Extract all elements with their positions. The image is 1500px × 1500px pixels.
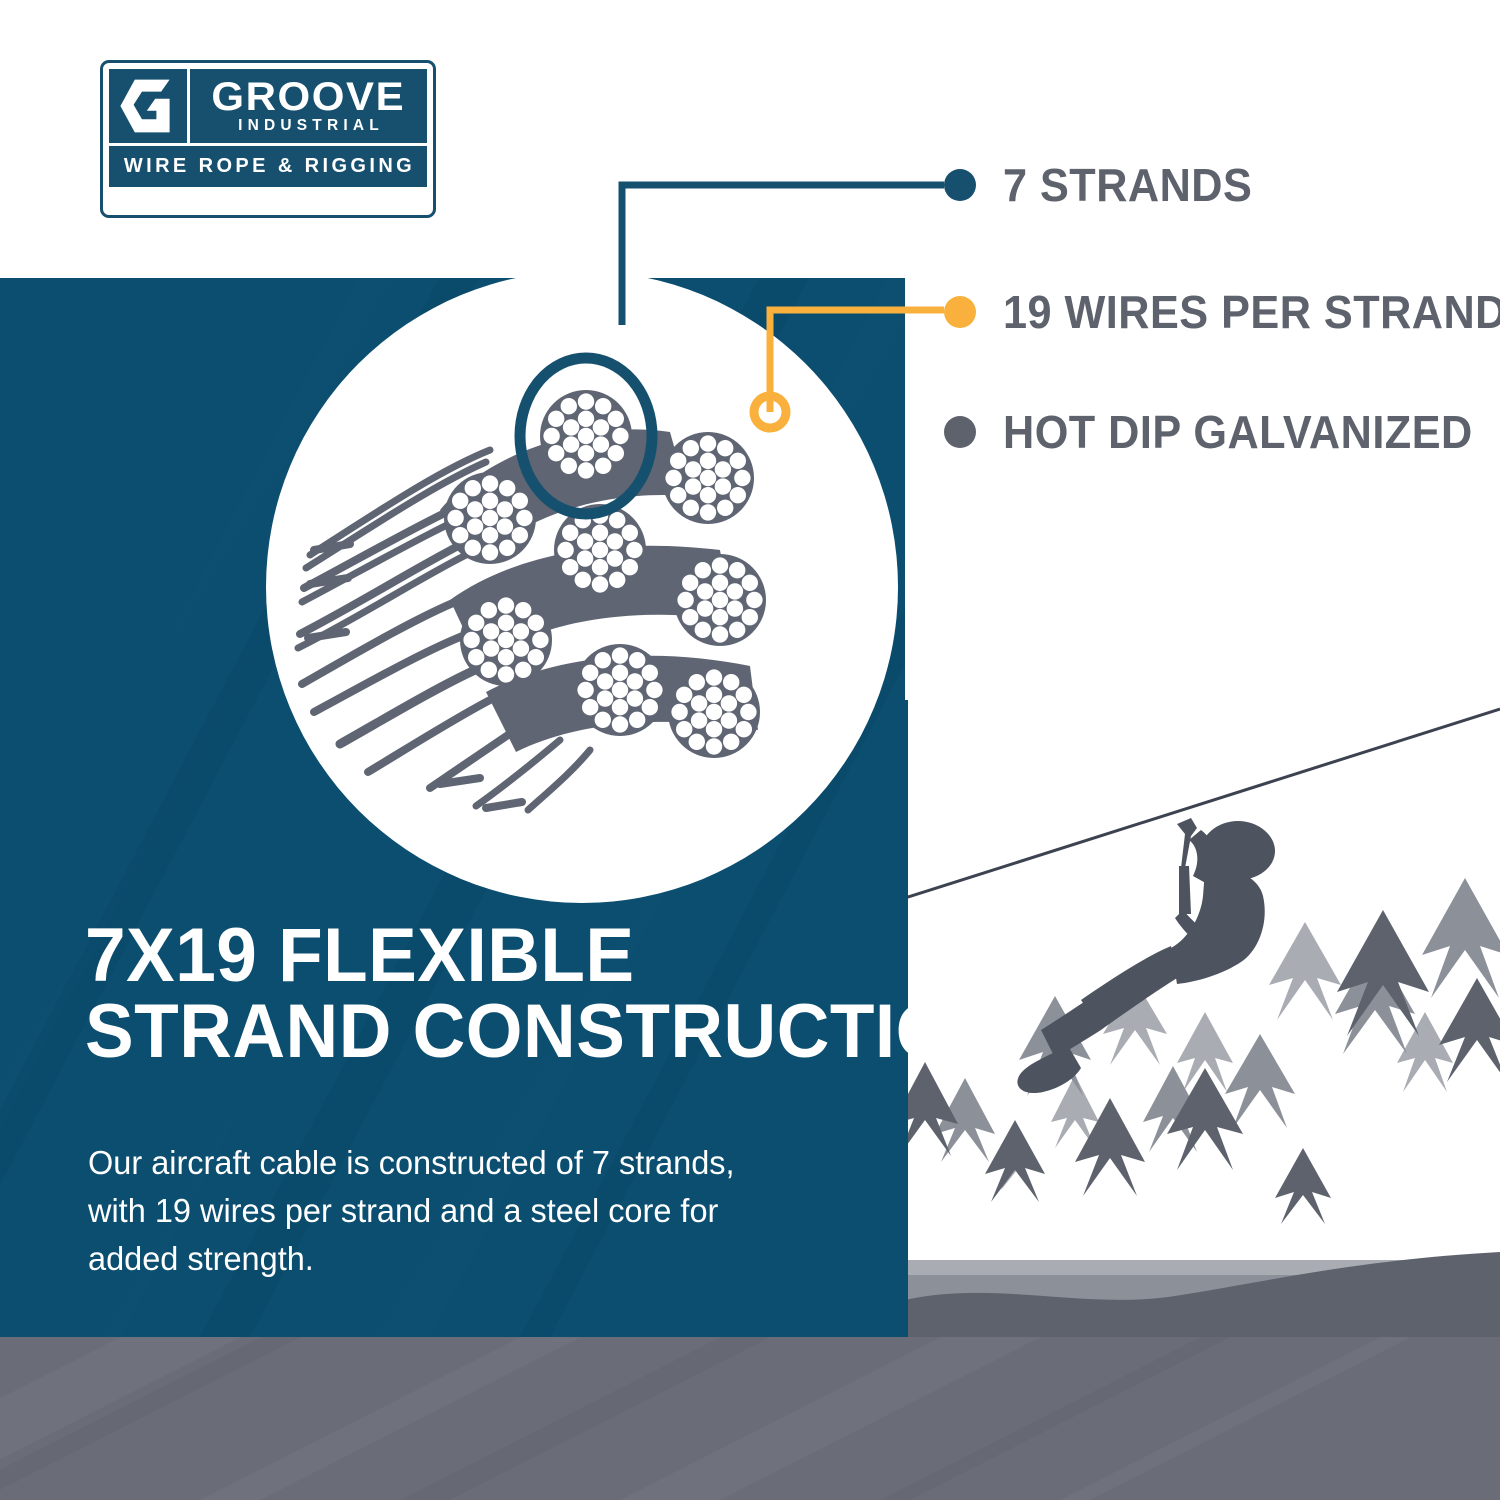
callout-19-wires-per-strand: 19 WIRES PER STRAND — [944, 287, 1500, 337]
callout-label: 7 STRANDS — [1003, 162, 1252, 208]
logo-brand-name: GROOVE — [212, 79, 406, 116]
strand-face-7 — [668, 666, 760, 758]
strand-face-5 — [460, 594, 552, 686]
body-paragraph: Our aircraft cable is constructed of 7 s… — [88, 1140, 757, 1285]
amber-dot-icon — [944, 296, 976, 328]
hexagon-g-icon — [118, 76, 178, 136]
infographic-canvas: 7 STRANDS 19 WIRES PER STRAND HOT DIP GA… — [0, 0, 1500, 1500]
strand-face-1 — [540, 390, 632, 482]
strand-face-2 — [662, 432, 754, 524]
navy-dot-icon — [944, 169, 976, 201]
brand-logo[interactable]: GROOVE INDUSTRIAL WIRE ROPE & RIGGING — [100, 60, 436, 218]
gray-dot-icon — [944, 416, 976, 448]
wire-rope-cross-section-illustration — [290, 300, 870, 820]
strand-face-3 — [444, 472, 536, 564]
strand-face-4 — [674, 554, 766, 646]
callout-7-strands: 7 STRANDS — [944, 160, 1268, 210]
page-title: 7X19 FLEXIBLE STRAND CONSTRUCTION — [85, 920, 875, 1068]
bottom-gray-band — [0, 1337, 1500, 1500]
bottom-band-wave-texture — [0, 1337, 1500, 1500]
groove-g-mark-icon — [109, 69, 187, 143]
headline-line-2: STRAND CONSTRUCTION — [85, 996, 843, 1068]
logo-brand-subname: INDUSTRIAL — [233, 117, 384, 135]
callout-label: 19 WIRES PER STRAND — [1003, 289, 1500, 335]
callout-label: HOT DIP GALVANIZED — [1003, 409, 1473, 455]
headline-line-1: 7X19 FLEXIBLE — [85, 920, 843, 992]
strand-face-6 — [574, 644, 666, 736]
callout-hot-dip-galvanized: HOT DIP GALVANIZED — [944, 407, 1500, 457]
logo-tagline: WIRE ROPE & RIGGING — [121, 155, 415, 178]
